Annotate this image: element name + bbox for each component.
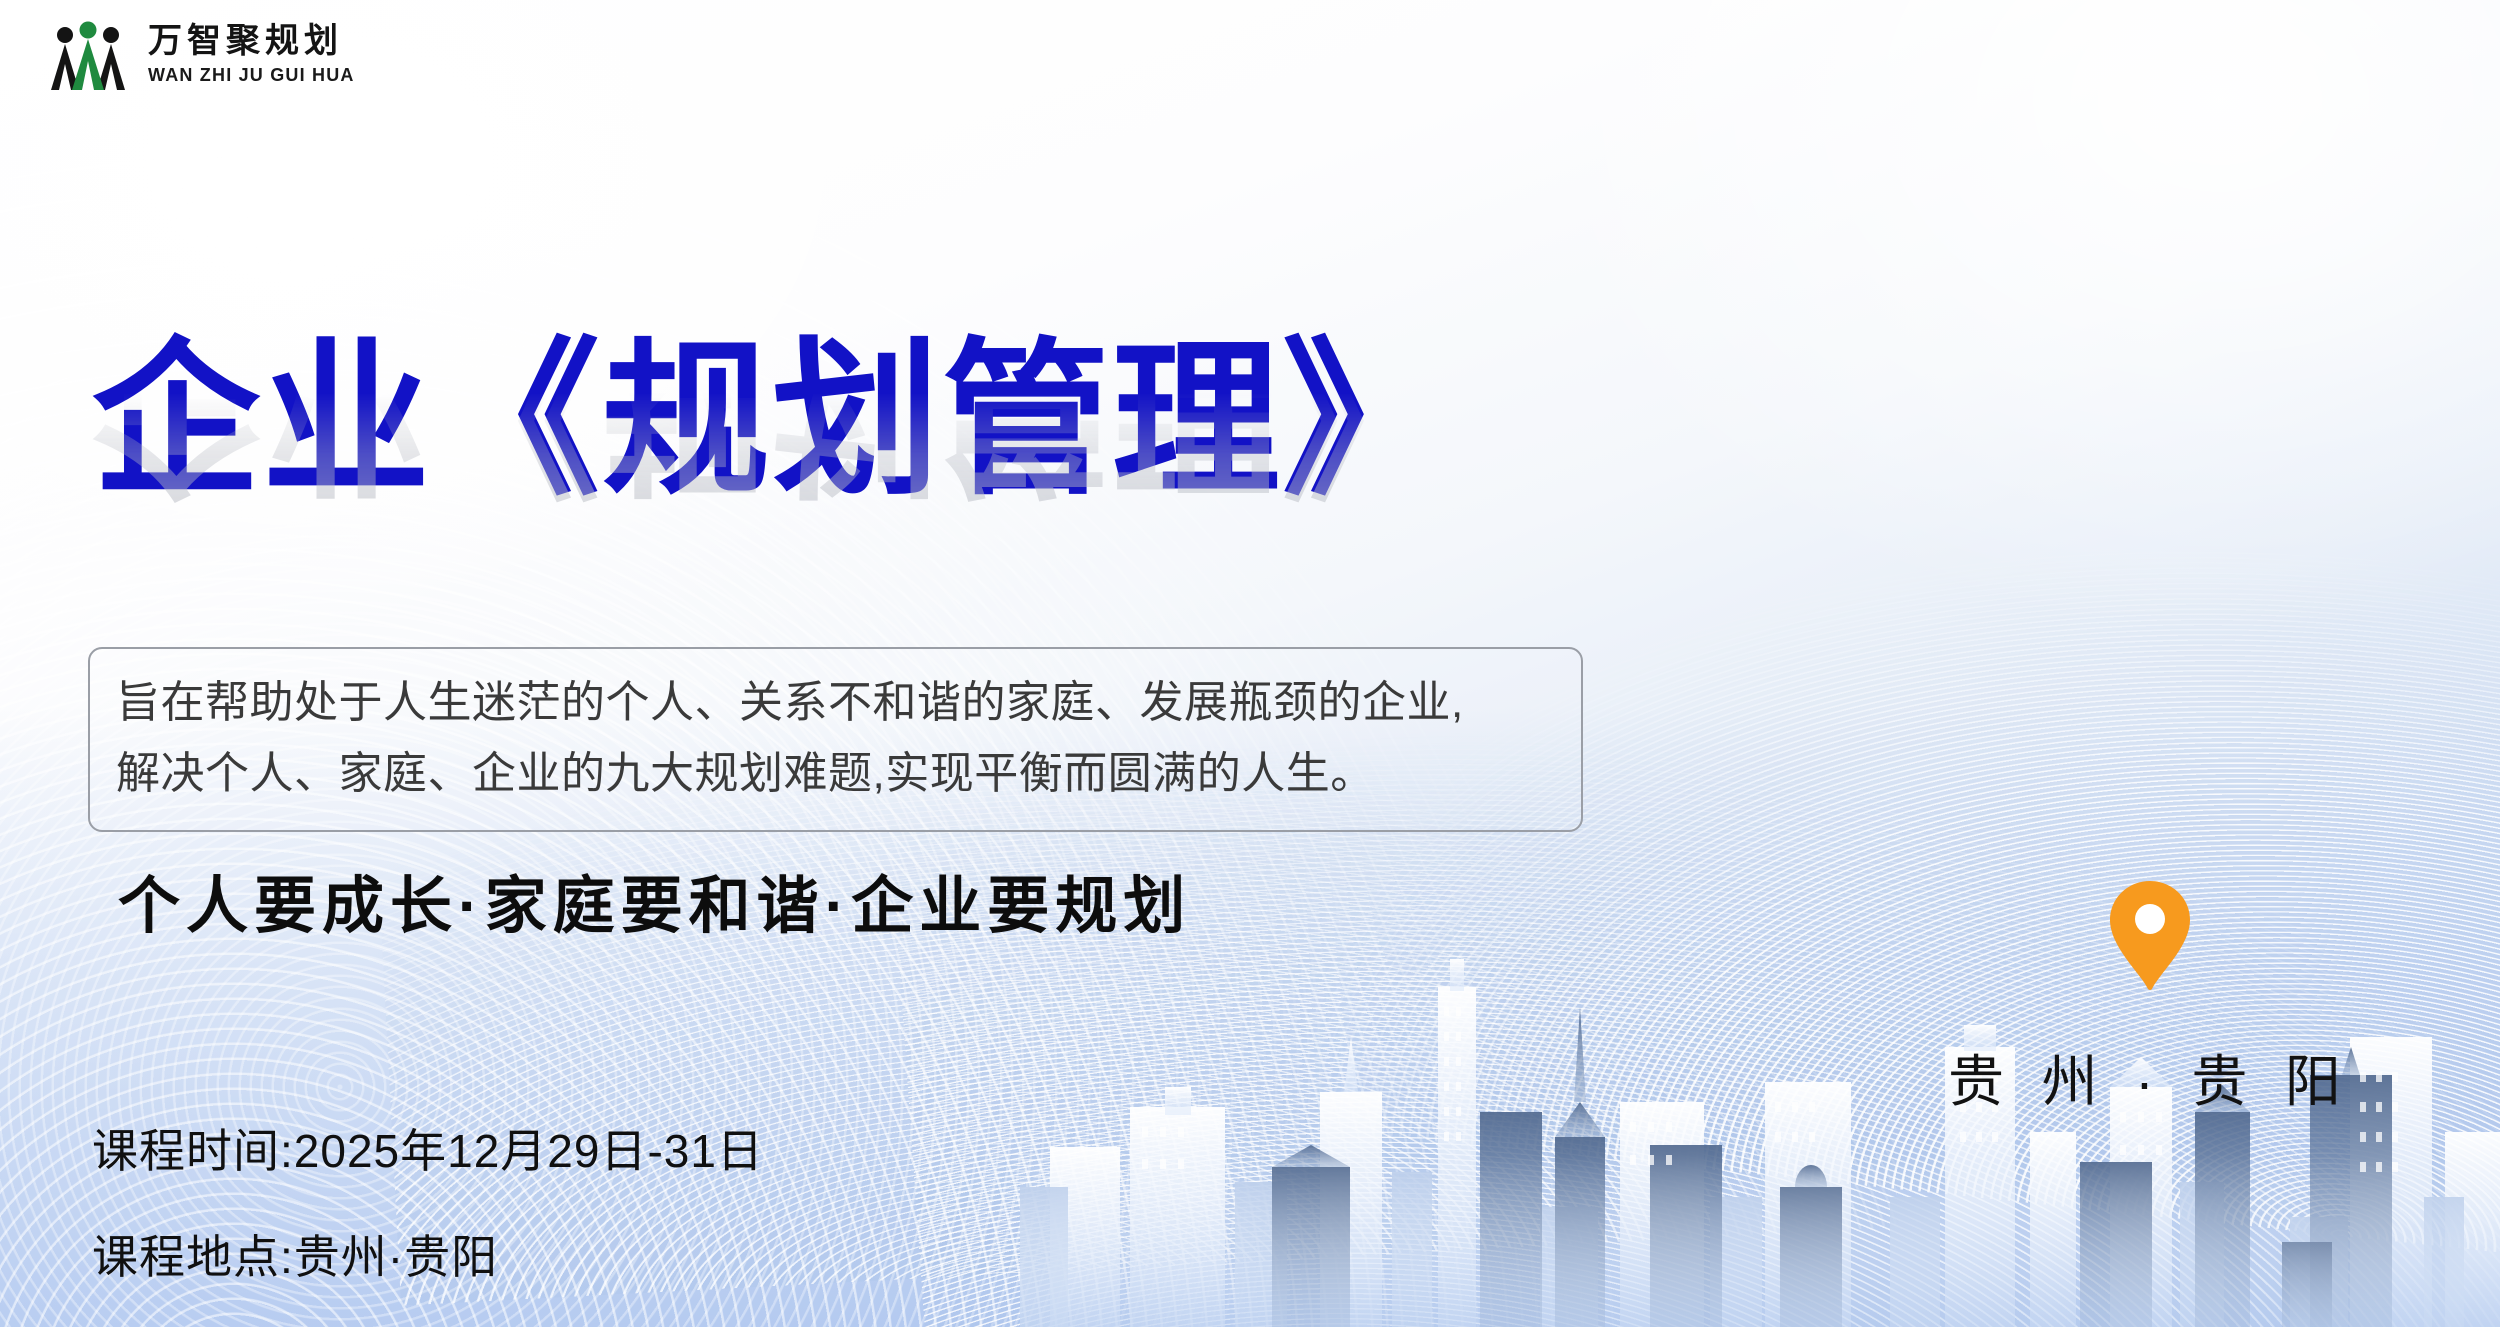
course-info: 课程时间:2025年12月29日-31日 课程地点:贵州·贵阳 <box>92 1115 764 1287</box>
poster-canvas: 万智聚规划 WAN ZHI JU GUI HUA 企业《规划管理》 企业《规划管… <box>0 0 2500 1327</box>
map-pin-icon <box>2102 875 2198 995</box>
three-people-logo-icon <box>46 18 130 90</box>
description-line-2: 解决个人、家庭、企业的九大规划难题,实现平衡而圆满的人生。 <box>116 738 1555 809</box>
brand-logo[interactable]: 万智聚规划 WAN ZHI JU GUI HUA <box>46 18 355 90</box>
brand-name-cn: 万智聚规划 <box>148 25 355 59</box>
description-box: 旨在帮助处于人生迷茫的个人、关系不和谐的家庭、发展瓶颈的企业, 解决个人、家庭、… <box>88 647 1583 832</box>
location-block: 贵 州 · 贵 阳 <box>1940 875 2360 1118</box>
tagline: 个人要成长·家庭要和谐·企业要规划 <box>118 855 1191 945</box>
brand-name-pinyin: WAN ZHI JU GUI HUA <box>148 66 355 84</box>
brand-logo-text: 万智聚规划 WAN ZHI JU GUI HUA <box>148 25 355 84</box>
description-line-1: 旨在帮助处于人生迷茫的个人、关系不和谐的家庭、发展瓶颈的企业, <box>116 667 1555 738</box>
page-title-reflection: 企业《规划管理》 <box>92 385 1652 505</box>
title-block: 企业《规划管理》 企业《规划管理》 <box>92 330 1652 625</box>
location-label: 贵 州 · 贵 阳 <box>1940 1037 2360 1118</box>
course-time: 课程时间:2025年12月29日-31日 <box>92 1115 764 1181</box>
course-place: 课程地点:贵州·贵阳 <box>92 1221 764 1287</box>
